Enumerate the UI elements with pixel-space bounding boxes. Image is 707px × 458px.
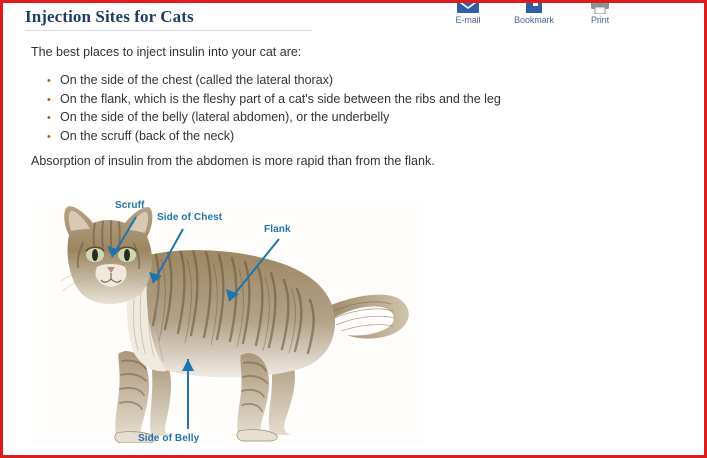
- list-item: • On the side of the chest (called the l…: [47, 72, 637, 91]
- bookmark-label: Bookmark: [508, 15, 560, 25]
- page-header: Injection Sites for Cats: [25, 7, 315, 31]
- title-divider: [25, 30, 312, 31]
- email-label: E-mail: [442, 15, 494, 25]
- bullet-marker: •: [47, 129, 60, 147]
- cat-anatomy-figure: Scruff Side of Chest Flank Side of Belly: [33, 201, 423, 443]
- annotation-label-side-of-belly: Side of Belly: [138, 433, 199, 444]
- injection-sites-list: • On the side of the chest (called the l…: [47, 72, 637, 146]
- closing-paragraph: Absorption of insulin from the abdomen i…: [31, 153, 435, 170]
- annotation-label-flank: Flank: [264, 224, 291, 235]
- printer-icon: [574, 0, 626, 14]
- bookmark-button[interactable]: Bookmark: [508, 0, 560, 25]
- list-item-label: On the side of the belly (lateral abdome…: [60, 109, 389, 127]
- print-label: Print: [574, 15, 626, 25]
- utility-toolbar: E-mail Bookmark Print: [442, 0, 626, 25]
- print-button[interactable]: Print: [574, 0, 626, 25]
- list-item-label: On the side of the chest (called the lat…: [60, 72, 333, 90]
- list-item-label: On the flank, which is the fleshy part o…: [60, 91, 501, 109]
- bullet-marker: •: [47, 110, 60, 128]
- bookmark-icon: [508, 0, 560, 14]
- bullet-marker: •: [47, 92, 60, 110]
- intro-paragraph: The best places to inject insulin into y…: [31, 44, 301, 61]
- page-title: Injection Sites for Cats: [25, 7, 315, 27]
- cat-illustration: [33, 201, 423, 443]
- envelope-icon: [442, 0, 494, 14]
- bullet-marker: •: [47, 73, 60, 91]
- list-item: • On the side of the belly (lateral abdo…: [47, 109, 637, 128]
- list-item: • On the scruff (back of the neck): [47, 128, 637, 147]
- document-page: E-mail Bookmark Print: [0, 0, 707, 458]
- annotation-label-side-of-chest: Side of Chest: [157, 212, 222, 223]
- annotation-label-scruff: Scruff: [115, 200, 145, 211]
- list-item: • On the flank, which is the fleshy part…: [47, 91, 637, 110]
- email-button[interactable]: E-mail: [442, 0, 494, 25]
- list-item-label: On the scruff (back of the neck): [60, 128, 234, 146]
